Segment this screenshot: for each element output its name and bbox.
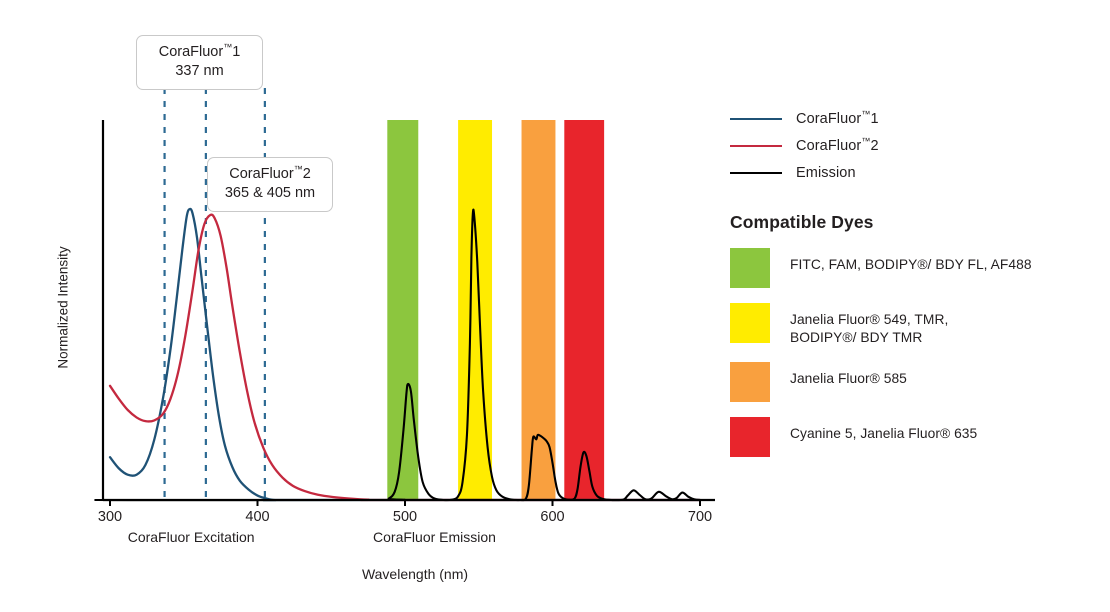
- legend-item-1[interactable]: CoraFluor™2: [730, 132, 1100, 159]
- legend-line-label-0: CoraFluor™1: [796, 111, 879, 127]
- legend-line-name-2: Emission: [796, 165, 856, 181]
- x-axis-title: Wavelength (nm): [0, 566, 830, 582]
- dye-label-1: Janelia Fluor® 549, TMR, BODIPY®/ BDY TM…: [790, 303, 948, 347]
- legend-line-suffix-0: 1: [870, 111, 878, 127]
- y-axis-title: Normalized Intensity: [56, 223, 71, 393]
- callout-corafluor2: CoraFluor™2 365 & 405 nm: [207, 157, 333, 212]
- dye-swatch-1: [730, 303, 770, 343]
- dye-item-2[interactable]: Janelia Fluor® 585: [730, 362, 1100, 402]
- legend-line-suffix-1: 2: [870, 138, 878, 154]
- callout-2-line1: CoraFluor™2: [229, 166, 311, 182]
- legend-line-name-1: CoraFluor: [796, 138, 861, 154]
- emission-range-label: CoraFluor Emission: [305, 529, 565, 545]
- legend-line-label-2: Emission: [796, 165, 856, 181]
- x-tick-label-300: 300: [80, 509, 140, 525]
- compatible-dyes-list: FITC, FAM, BODIPY®/ BDY FL, AF488Janelia…: [730, 248, 1100, 457]
- spectra-figure: CoraFluor™1 337 nm CoraFluor™2 365 & 405…: [0, 0, 1110, 612]
- callout-1-line1: CoraFluor™1: [159, 44, 241, 60]
- legend: CoraFluor™1CoraFluor™2Emission Compatibl…: [730, 105, 1100, 457]
- legend-item-0[interactable]: CoraFluor™1: [730, 105, 1100, 132]
- dye-label-3: Cyanine 5, Janelia Fluor® 635: [790, 417, 977, 443]
- dye-item-0[interactable]: FITC, FAM, BODIPY®/ BDY FL, AF488: [730, 248, 1100, 288]
- x-tick-label-400: 400: [228, 509, 288, 525]
- legend-series-list: CoraFluor™1CoraFluor™2Emission: [730, 105, 1100, 186]
- callout-1-line2: 337 nm: [175, 63, 223, 79]
- callout-corafluor1: CoraFluor™1 337 nm: [136, 35, 263, 90]
- excitation-range-label: CoraFluor Excitation: [61, 529, 321, 545]
- callout-2-line2: 365 & 405 nm: [225, 185, 315, 201]
- dye-label-0: FITC, FAM, BODIPY®/ BDY FL, AF488: [790, 248, 1032, 274]
- dye-band-orange: [522, 120, 556, 500]
- dye-label-2: Janelia Fluor® 585: [790, 362, 907, 388]
- legend-line-swatch-0: [730, 118, 782, 120]
- dye-band-red: [564, 120, 604, 500]
- dye-swatch-2: [730, 362, 770, 402]
- legend-line-name-0: CoraFluor: [796, 111, 861, 127]
- dye-swatch-0: [730, 248, 770, 288]
- legend-line-swatch-2: [730, 172, 782, 174]
- dye-item-3[interactable]: Cyanine 5, Janelia Fluor® 635: [730, 417, 1100, 457]
- x-tick-label-500: 500: [375, 509, 435, 525]
- dye-swatch-3: [730, 417, 770, 457]
- dye-item-1[interactable]: Janelia Fluor® 549, TMR, BODIPY®/ BDY TM…: [730, 303, 1100, 347]
- x-tick-label-700: 700: [670, 509, 730, 525]
- legend-line-swatch-1: [730, 145, 782, 147]
- legend-item-2[interactable]: Emission: [730, 159, 1100, 186]
- legend-line-label-1: CoraFluor™2: [796, 138, 879, 154]
- x-tick-label-600: 600: [523, 509, 583, 525]
- compatible-dyes-title: Compatible Dyes: [730, 212, 1100, 233]
